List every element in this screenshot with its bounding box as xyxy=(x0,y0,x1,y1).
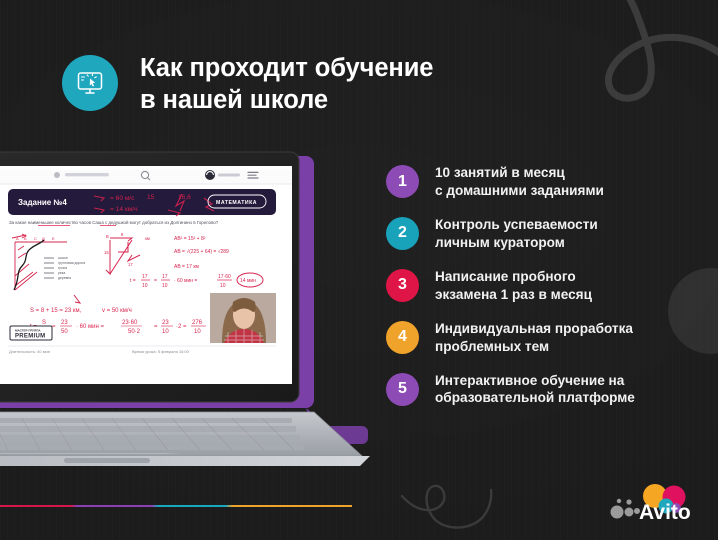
header: Как проходит обучение в нашей школе xyxy=(62,50,433,116)
svg-text:шоссе: шоссе xyxy=(58,256,68,260)
svg-text:14 мин: 14 мин xyxy=(240,278,256,284)
svg-text:река: река xyxy=(58,271,65,275)
svg-text:10: 10 xyxy=(162,283,168,289)
svg-text:17: 17 xyxy=(128,262,133,267)
feature-list: 1 10 занятий в месяц с домашними задания… xyxy=(386,163,706,407)
svg-text:МАТЕМАТИКА: МАТЕМАТИКА xyxy=(216,200,257,206)
svg-text:50: 50 xyxy=(61,329,68,335)
svg-text:Е: Е xyxy=(52,236,55,241)
svg-text:276: 276 xyxy=(192,320,203,326)
laptop-illustration: Задание №4 = 60 м/с = 14 км/ч 15 16,6 МА… xyxy=(0,150,374,480)
svg-text:За какое наименьшее количество: За какое наименьшее количество часов Саш… xyxy=(9,220,219,225)
feature-label: Интерактивное обучение на образовательно… xyxy=(435,371,635,408)
svg-text:23: 23 xyxy=(162,320,169,326)
svg-text:Б: Б xyxy=(24,236,27,241)
svg-text:17: 17 xyxy=(162,274,168,280)
svg-text:деревня: деревня xyxy=(58,276,71,280)
feature-label: Контроль успеваемости личным куратором xyxy=(435,215,598,252)
svg-text:МАСТЕР-ГРУППА: МАСТЕР-ГРУППА xyxy=(15,329,41,333)
svg-text:15: 15 xyxy=(147,194,155,201)
svg-text:AB = 17 км: AB = 17 км xyxy=(174,264,200,270)
feature-number-badge: 2 xyxy=(386,217,419,250)
svg-text:23·60: 23·60 xyxy=(122,320,138,326)
feature-number-badge: 1 xyxy=(386,165,419,198)
svg-text:S = 8 + 15 = 23 км,: S = 8 + 15 = 23 км, xyxy=(30,308,82,314)
list-item: 4 Индивидуальная проработка проблемных т… xyxy=(386,319,706,356)
svg-text:В: В xyxy=(106,234,109,239)
gradient-divider xyxy=(0,505,352,507)
svg-text:Длительность: 40 мин: Длительность: 40 мин xyxy=(9,349,50,354)
svg-text:17: 17 xyxy=(142,274,148,280)
slide-canvas: Как проходит обучение в нашей школе xyxy=(0,0,718,540)
svg-text:Время урока: 5 февраля 16:00: Время урока: 5 февраля 16:00 xyxy=(132,349,190,354)
svg-text:16,6: 16,6 xyxy=(178,194,191,201)
feature-number-badge: 4 xyxy=(386,321,419,354)
feature-label: Индивидуальная проработка проблемных тем xyxy=(435,319,633,356)
avito-logo: Avito xyxy=(608,482,704,528)
svg-text:23: 23 xyxy=(61,320,68,326)
svg-text:v = 50 км/ч: v = 50 км/ч xyxy=(102,308,132,314)
curved-loop-line-icon xyxy=(574,0,718,120)
svg-text:10: 10 xyxy=(194,329,201,335)
svg-text:тропа: тропа xyxy=(58,266,67,270)
svg-text:50·2: 50·2 xyxy=(128,329,141,335)
svg-text:15: 15 xyxy=(104,250,109,255)
svg-text:= 60 м/с: = 60 м/с xyxy=(110,195,135,202)
feature-label: Написание пробного экзамена 1 раз в меся… xyxy=(435,267,592,304)
list-item: 3 Написание пробного экзамена 1 раз в ме… xyxy=(386,267,706,304)
svg-text:=: = xyxy=(154,278,157,284)
list-item: 1 10 занятий в месяц с домашними задания… xyxy=(386,163,706,200)
svg-text:· 60 мин =: · 60 мин = xyxy=(174,278,197,284)
svg-text:AB² = 15² + 8²: AB² = 15² + 8² xyxy=(174,236,206,242)
svg-text:10: 10 xyxy=(162,329,169,335)
svg-text:км: км xyxy=(145,236,150,241)
svg-text:10: 10 xyxy=(220,283,226,289)
svg-text:грунтовая дорога: грунтовая дорога xyxy=(58,261,85,265)
svg-text:AB = √(225 + 64) = √289: AB = √(225 + 64) = √289 xyxy=(174,248,229,255)
svg-text:Задание №4: Задание №4 xyxy=(18,198,67,207)
svg-text:С: С xyxy=(34,236,37,241)
svg-text:=: = xyxy=(52,324,56,330)
feature-number-badge: 3 xyxy=(386,269,419,302)
list-item: 5 Интерактивное обучение на образователь… xyxy=(386,371,706,408)
svg-text:10: 10 xyxy=(142,283,148,289)
svg-text:S: S xyxy=(42,320,46,326)
svg-text:PREMIUM: PREMIUM xyxy=(15,334,45,340)
svg-text:A: A xyxy=(16,236,19,241)
svg-text:t =: t = xyxy=(130,278,136,284)
feature-number-badge: 5 xyxy=(386,373,419,406)
svg-text:= 14 км/ч: = 14 км/ч xyxy=(110,206,138,213)
svg-text:· 60 мин =: · 60 мин = xyxy=(76,324,104,330)
feature-label: 10 занятий в месяц с домашними заданиями xyxy=(435,163,604,200)
desktop-cursor-icon xyxy=(62,55,118,111)
svg-text:17·60: 17·60 xyxy=(218,274,231,280)
avito-wordmark: Avito xyxy=(639,501,691,524)
svg-text:·2 =: ·2 = xyxy=(176,324,187,330)
page-title: Как проходит обучение в нашей школе xyxy=(140,52,433,116)
list-item: 2 Контроль успеваемости личным куратором xyxy=(386,215,706,252)
curved-loop-line-icon xyxy=(398,478,514,534)
avito-logo-mark: Avito xyxy=(608,482,704,528)
svg-text:=: = xyxy=(154,324,158,330)
